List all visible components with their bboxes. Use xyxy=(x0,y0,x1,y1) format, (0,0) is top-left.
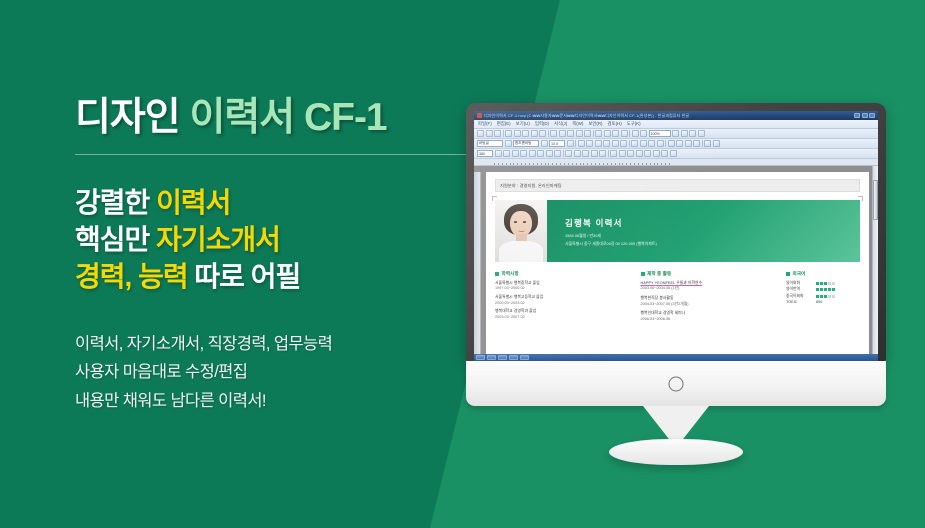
ruler-tick xyxy=(615,163,616,166)
cut-icon[interactable] xyxy=(522,130,529,137)
item-text: 행복한직장 봉사활동 xyxy=(641,296,776,301)
print-icon[interactable] xyxy=(505,130,512,137)
open-icon[interactable] xyxy=(486,130,493,137)
language-label: TOEIC xyxy=(786,300,816,304)
line-color-icon[interactable] xyxy=(574,150,581,157)
taskbar-item-icon[interactable] xyxy=(509,355,518,360)
language-row: 중국어회화 xyxy=(786,294,860,299)
ruler-tick xyxy=(552,163,553,166)
toolbar-separator xyxy=(665,140,666,147)
headline-block: 강렬한 이력서 핵심만 자기소개서 경력, 능력 따로 어필 xyxy=(75,185,495,296)
section-title: 학력사항 xyxy=(502,271,519,277)
section-bullet-icon xyxy=(786,272,790,276)
zoom-in-icon[interactable] xyxy=(672,130,679,137)
toolbar-separator xyxy=(629,140,630,147)
border-icon[interactable] xyxy=(713,140,720,147)
ruler-tick xyxy=(591,163,592,166)
headline-line-1: 강렬한 이력서 xyxy=(75,185,495,222)
toolbar-drawing[interactable]: 380 xyxy=(474,149,878,159)
zoom-out-icon[interactable] xyxy=(681,130,688,137)
rating-dot-filled xyxy=(816,295,819,298)
superscript-icon[interactable] xyxy=(612,140,619,147)
resume-hero: 김행복 이력서 1984.06월생 / 만30세 서울특별시 중구 세종대로00… xyxy=(495,200,860,262)
rating-dot-filled xyxy=(824,288,827,291)
ruler-tick xyxy=(494,163,495,166)
item-date: 2000.03~2003.02 xyxy=(495,301,630,305)
menu-tools[interactable]: 도구(K) xyxy=(627,121,641,127)
align-center-icon[interactable] xyxy=(640,140,647,147)
description-line-3: 내용만 채워도 남다른 이력서! xyxy=(75,387,495,415)
crop-mark-top-right xyxy=(858,196,863,201)
item-date: 2003.03~2007.02 xyxy=(495,315,630,319)
bullet-list-icon[interactable] xyxy=(676,140,683,147)
headline-3-white2: 따로 어필 xyxy=(188,261,301,292)
item-date: 2003.06~2004.05 (1년) xyxy=(641,286,776,291)
ruler-tick xyxy=(502,163,503,166)
list-item: 서울특별시 행복고등학교 졸업 2000.03~2003.02 xyxy=(495,295,630,305)
toolbar-separator xyxy=(563,150,564,157)
close-icon[interactable] xyxy=(869,113,875,118)
ellipse-tool-icon[interactable] xyxy=(520,150,527,157)
description-line-2: 사용자 마음대로 수정/편집 xyxy=(75,358,495,386)
ruler-tick xyxy=(541,163,542,166)
apply-field-bar: 지원분야 : 경영지원, 온라인마케팅 xyxy=(495,179,860,192)
language-label: 중국어회화 xyxy=(786,294,816,299)
toolbar-formatting[interactable]: 바탕글 함초롬바탕 10.0 xyxy=(474,139,878,149)
lock-icon[interactable] xyxy=(661,150,668,157)
headline-2-yellow: 자기소개서 xyxy=(156,224,280,255)
section-bullet-icon xyxy=(641,272,645,276)
align-objects-icon[interactable] xyxy=(644,150,651,157)
curve-tool-icon[interactable] xyxy=(537,150,544,157)
app-titlebar: 디자인이력서 CF-1.hwp [C:₩₩사용자₩₩문서₩₩디자인이력서₩₩디자… xyxy=(474,111,878,120)
minimize-icon[interactable] xyxy=(854,113,860,118)
strikethrough-icon[interactable] xyxy=(603,140,610,147)
font-select[interactable]: 함초롬바탕 xyxy=(513,140,539,147)
ruler-tick xyxy=(537,163,538,166)
menu-edit[interactable]: 편집(E) xyxy=(497,121,511,127)
list-item: 행복한직장 봉사활동 2004.03~2007.05 (3년2개월) xyxy=(641,296,776,307)
list-item: 행복대학교 경영학과 졸업 2003.03~2007.02 xyxy=(495,309,630,319)
ruler-tick xyxy=(650,163,651,166)
rating-dot-filled xyxy=(824,295,827,298)
vertical-scrollbar[interactable] xyxy=(872,166,878,361)
toolbar-separator xyxy=(575,140,576,147)
rating-dot-filled xyxy=(816,288,819,291)
line-spacing-icon[interactable] xyxy=(668,140,675,147)
headline-1-yellow: 이력서 xyxy=(156,187,230,218)
rating-dots xyxy=(816,282,835,285)
monitor-chin xyxy=(466,361,886,406)
bold-icon[interactable] xyxy=(578,140,585,147)
name-card: 김행복 이력서 1984.06월생 / 만30세 서울특별시 중구 세종대로00… xyxy=(547,200,860,262)
circle-logo-icon xyxy=(669,376,684,391)
rating-dot-filled xyxy=(820,282,823,285)
section-header: 재학 중 활동 xyxy=(641,271,776,277)
ruler-tick xyxy=(634,163,635,166)
fill-color-icon[interactable] xyxy=(565,150,572,157)
rating-dots xyxy=(816,295,835,298)
ruler-tick xyxy=(619,163,620,166)
photo-shading xyxy=(495,200,547,262)
page-title-accent: 이력서 CF-1 xyxy=(189,96,386,139)
list-item: HAPPY YEONFEEL 우들과 아학연수 2003.06~2004.05 … xyxy=(641,281,776,292)
item-date: 2006.03~2006.08 xyxy=(641,317,776,321)
ruler-tick xyxy=(622,163,623,166)
menu-security[interactable]: 보안(R) xyxy=(588,121,602,127)
ruler-tick xyxy=(545,163,546,166)
chevron-down-icon[interactable] xyxy=(505,140,512,147)
ruler-tick xyxy=(529,163,530,166)
banner-stage: 디자인 이력서 CF-1 강렬한 이력서 핵심만 자기소개서 경력, 능력 따로… xyxy=(0,0,925,528)
rect-tool-icon[interactable] xyxy=(512,150,519,157)
toolbar-separator xyxy=(608,150,609,157)
ruler-tick xyxy=(572,163,573,166)
ruler-tick xyxy=(654,163,655,166)
taskbar-start-icon[interactable] xyxy=(476,355,485,360)
app-titlebar-text: 디자인이력서 CF-1.hwp [C:₩₩사용자₩₩문서₩₩디자인이력서₩₩디자… xyxy=(484,113,852,119)
rating-dot-empty xyxy=(828,295,831,298)
monitor-mockup: 디자인이력서 CF-1.hwp [C:₩₩사용자₩₩문서₩₩디자인이력서₩₩디자… xyxy=(466,103,886,406)
ruler-tick xyxy=(587,163,588,166)
os-taskbar[interactable] xyxy=(474,354,878,361)
toolbar-separator xyxy=(702,140,703,147)
applicant-photo xyxy=(495,200,547,262)
ruler-tick xyxy=(607,163,608,166)
chevron-down-icon[interactable] xyxy=(541,140,548,147)
ruler-tick xyxy=(517,163,518,166)
headline-1-white: 강렬한 xyxy=(75,187,156,218)
applicant-name: 김행복 이력서 xyxy=(565,217,860,229)
ruler-tick xyxy=(646,163,647,166)
select-tool-icon[interactable] xyxy=(495,150,502,157)
table-icon[interactable] xyxy=(567,130,574,137)
fit-page-icon[interactable] xyxy=(689,130,696,137)
ruler-tick xyxy=(568,163,569,166)
ruler-tick xyxy=(638,163,639,166)
polygon-tool-icon[interactable] xyxy=(529,150,536,157)
ruler-tick xyxy=(525,163,526,166)
resume-sections: 학력사항 서울특별시 행복중학교 졸업 1997.03~2000.02 서울특별… xyxy=(495,271,860,325)
list-item: 서울특별시 행복중학교 졸업 1997.03~2000.02 xyxy=(495,281,630,291)
ruler-tick xyxy=(513,163,514,166)
item-date: 1997.03~2000.02 xyxy=(495,286,630,290)
monitor-screen: 디자인이력서 CF-1.hwp [C:₩₩사용자₩₩문서₩₩디자인이력서₩₩디자… xyxy=(474,111,878,361)
rating-dot-empty xyxy=(832,282,835,285)
ruler-tick xyxy=(665,163,666,166)
toolbar-separator xyxy=(548,130,549,137)
align-justify-icon[interactable] xyxy=(657,140,664,147)
equation-icon[interactable] xyxy=(604,130,611,137)
ungroup-icon[interactable] xyxy=(599,150,606,157)
language-label: 영어번역 xyxy=(786,287,816,292)
rating-dot-filled xyxy=(820,295,823,298)
ruler-tick xyxy=(510,163,511,166)
ruler-tick xyxy=(548,163,549,166)
item-date: 2004.03~2007.05 (3년2개월) xyxy=(641,302,776,307)
line-tool-icon[interactable] xyxy=(503,150,510,157)
ruler-tick xyxy=(580,163,581,166)
section-title: 외국어 xyxy=(793,271,806,277)
headline-line-2: 핵심만 자기소개서 xyxy=(75,222,495,259)
chevron-down-icon[interactable] xyxy=(567,140,574,147)
ruler-tick xyxy=(560,163,561,166)
undo-icon[interactable] xyxy=(550,130,557,137)
draw-zoom-field[interactable]: 380 xyxy=(477,150,493,157)
title-divider xyxy=(75,154,475,155)
ruler-tick xyxy=(498,163,499,166)
page-title-plain: 디자인 xyxy=(75,96,189,139)
ruler-tick xyxy=(657,163,658,166)
section-header: 외국어 xyxy=(786,271,860,277)
memo-icon[interactable] xyxy=(621,130,628,137)
font-size-select[interactable]: 10.0 xyxy=(549,140,565,147)
ruler-tick xyxy=(669,163,670,166)
headline-2-white: 핵심만 xyxy=(75,224,156,255)
rating-dot-filled xyxy=(828,288,831,291)
section-bullet-icon xyxy=(495,272,499,276)
window-controls[interactable] xyxy=(854,113,875,118)
redo-icon[interactable] xyxy=(559,130,566,137)
ruler-tick xyxy=(583,163,584,166)
language-row: TOEIC 850 xyxy=(786,300,860,304)
align-left-icon[interactable] xyxy=(631,140,638,147)
taskbar-item-icon[interactable] xyxy=(498,355,507,360)
ruler-tick xyxy=(595,163,596,166)
distribute-icon[interactable] xyxy=(653,150,660,157)
image-icon[interactable] xyxy=(584,130,591,137)
monitor-stand-base xyxy=(609,439,743,465)
rating-dot-empty xyxy=(832,295,835,298)
ruler-tick xyxy=(661,163,662,166)
ruler-tick xyxy=(603,163,604,166)
taskbar-item-icon[interactable] xyxy=(487,355,496,360)
group-icon[interactable] xyxy=(591,150,598,157)
toolbar-standard[interactable]: 100% xyxy=(474,129,878,139)
spellcheck-icon[interactable] xyxy=(632,130,639,137)
description-line-1: 이력서, 자기소개서, 직장경력, 업무능력 xyxy=(75,330,495,358)
shadow-icon[interactable] xyxy=(582,150,589,157)
ruler-tick xyxy=(533,163,534,166)
section-foreign-language: 외국어 일어회화 xyxy=(786,271,860,325)
language-row: 일어회화 xyxy=(786,281,860,286)
rating-dot-empty xyxy=(828,282,831,285)
send-back-icon[interactable] xyxy=(619,150,626,157)
menu-view[interactable]: 보기(U) xyxy=(516,121,530,127)
ruler-tick xyxy=(599,163,600,166)
toolbar-separator xyxy=(503,130,504,137)
shape-icon[interactable] xyxy=(595,130,602,137)
banner-text-column: 디자인 이력서 CF-1 강렬한 이력서 핵심만 자기소개서 경력, 능력 따로… xyxy=(75,98,495,415)
save-icon[interactable] xyxy=(494,130,501,137)
item-text: 행복인대학교 경영학 세미나 xyxy=(641,311,776,316)
item-text: 서울특별시 행복중학교 졸업 xyxy=(495,281,630,286)
menu-page[interactable]: 쪽(W) xyxy=(572,121,583,127)
ruler-tick xyxy=(626,163,627,166)
ruler-tick xyxy=(521,163,522,166)
section-activities: 재학 중 활동 HAPPY YEONFEEL 우들과 아학연수 2003.06~… xyxy=(641,271,776,325)
hyperlink-icon[interactable] xyxy=(612,130,619,137)
applicant-birth-age: 1984.06월생 / 만30세 xyxy=(565,233,860,239)
language-row: 영어번역 xyxy=(786,287,860,292)
ruler-tick xyxy=(506,163,507,166)
section-education: 학력사항 서울특별시 행복중학교 졸업 1997.03~2000.02 서울특별… xyxy=(495,271,630,325)
ruler-tick xyxy=(556,163,557,166)
app-menubar[interactable]: 파일(F) 편집(E) 보기(U) 입력(D) 서식(J) 쪽(W) 보안(R)… xyxy=(474,120,878,129)
indent-icon[interactable] xyxy=(693,140,700,147)
rotate-icon[interactable] xyxy=(627,150,634,157)
menu-review[interactable]: 검토(H) xyxy=(608,121,622,127)
ruler-tick xyxy=(630,163,631,166)
new-icon[interactable] xyxy=(477,130,484,137)
page-title: 디자인 이력서 CF-1 xyxy=(75,98,495,137)
rating-dot-filled xyxy=(824,282,827,285)
ruler-tick xyxy=(564,163,565,166)
highlight-icon[interactable] xyxy=(704,140,711,147)
italic-icon[interactable] xyxy=(586,140,593,147)
copy-icon[interactable] xyxy=(531,130,538,137)
monitor-bezel: 디자인이력서 CF-1.hwp [C:₩₩사용자₩₩문서₩₩디자인이력서₩₩디자… xyxy=(466,103,886,361)
description-block: 이력서, 자기소개서, 직장경력, 업무능력 사용자 마음대로 수정/편집 내용… xyxy=(75,330,495,415)
properties-icon[interactable] xyxy=(670,150,677,157)
rating-dot-filled xyxy=(820,288,823,291)
ruler-tick xyxy=(611,163,612,166)
applicant-address: 서울특별시 중구 세종대로00길 00 120-000 (행복아파트) xyxy=(565,241,860,247)
item-text: 서울특별시 행복고등학교 졸업 xyxy=(495,295,630,300)
toolbar-separator xyxy=(629,130,630,137)
scrollbar-thumb[interactable] xyxy=(873,180,878,220)
horizontal-ruler[interactable] xyxy=(474,159,878,166)
chart-icon[interactable] xyxy=(576,130,583,137)
taskbar-item-icon[interactable] xyxy=(520,355,529,360)
style-select[interactable]: 바탕글 xyxy=(477,140,503,147)
help-icon[interactable] xyxy=(698,130,705,137)
preview-icon[interactable] xyxy=(514,130,521,137)
menu-input[interactable]: 입력(D) xyxy=(535,121,549,127)
vertical-ruler xyxy=(474,172,481,361)
list-item: 행복인대학교 경영학 세미나 2006.03~2006.08 xyxy=(641,311,776,321)
item-text: HAPPY YEONFEEL 우들과 아학연수 xyxy=(641,281,776,286)
rating-dots xyxy=(816,288,835,291)
ruler-tick xyxy=(576,163,577,166)
maximize-icon[interactable] xyxy=(862,113,868,118)
rating-dot-filled xyxy=(832,288,835,291)
numbered-list-icon[interactable] xyxy=(685,140,692,147)
underline-icon[interactable] xyxy=(595,140,602,147)
app-icon xyxy=(477,113,482,118)
document-page[interactable]: 지원분야 : 경영지원, 온라인마케팅 xyxy=(486,172,869,361)
align-right-icon[interactable] xyxy=(648,140,655,147)
menu-format[interactable]: 서식(J) xyxy=(554,121,567,127)
menu-file[interactable]: 파일(F) xyxy=(478,121,492,127)
ruler-tick xyxy=(642,163,643,166)
language-label: 일어회화 xyxy=(786,281,816,286)
font-color-icon[interactable] xyxy=(620,140,627,147)
section-title: 재학 중 활동 xyxy=(647,271,671,277)
zoom-field[interactable]: 100% xyxy=(649,130,671,137)
headline-line-3: 경력, 능력 따로 어필 xyxy=(75,259,495,296)
toolbar-separator xyxy=(593,130,594,137)
paste-icon[interactable] xyxy=(539,130,546,137)
document-canvas: 지원분야 : 경영지원, 온라인마케팅 xyxy=(474,166,878,361)
language-score: 850 xyxy=(816,300,822,304)
bring-front-icon[interactable] xyxy=(610,150,617,157)
headline-3-yellow: 경력, 능력 xyxy=(75,261,188,292)
rating-dot-filled xyxy=(816,282,819,285)
flip-icon[interactable] xyxy=(636,150,643,157)
arc-tool-icon[interactable] xyxy=(546,150,553,157)
item-text: 행복대학교 경영학과 졸업 xyxy=(495,309,630,314)
section-header: 학력사항 xyxy=(495,271,630,277)
textbox-tool-icon[interactable] xyxy=(554,150,561,157)
find-icon[interactable] xyxy=(640,130,647,137)
